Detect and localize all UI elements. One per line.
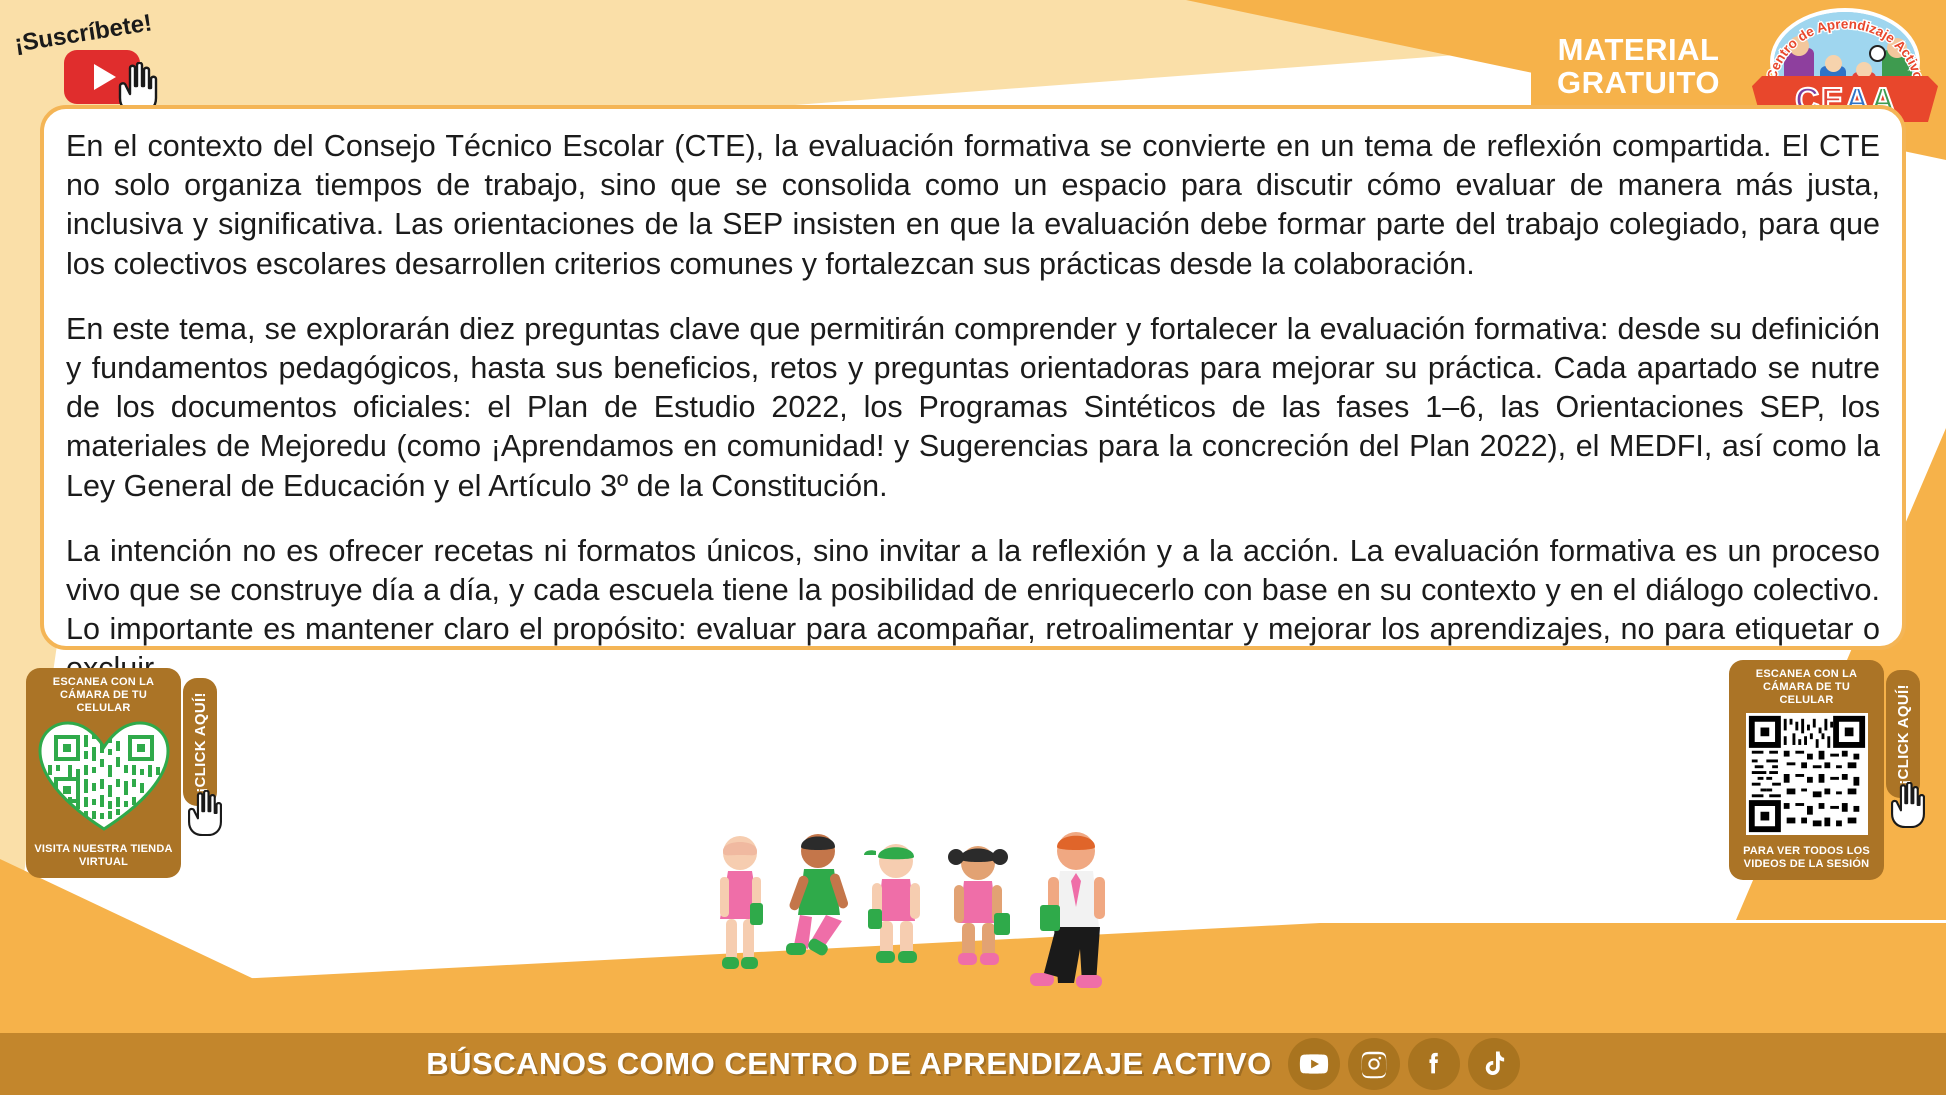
child-figure-1 — [720, 836, 763, 969]
content-card: En el contexto del Consejo Técnico Escol… — [40, 105, 1906, 650]
qr-left-caption-top-line1: ESCANEA CON LA — [32, 676, 175, 689]
qr-right-caption-top-line2: CÁMARA DE TU CELULAR — [1735, 681, 1878, 707]
material-line-2: GRATUITO — [1557, 67, 1720, 100]
qr-panel-videos[interactable]: ESCANEA CON LA CÁMARA DE TU CELULAR — [1729, 660, 1884, 880]
qr-right-caption-bottom-line2: VIDEOS DE LA SESIÓN — [1735, 858, 1878, 871]
pointing-hand-icon — [185, 790, 225, 836]
tiktok-icon[interactable] — [1468, 1038, 1520, 1090]
qr-left-caption-bottom-line1: VISITA NUESTRA TIENDA — [32, 843, 175, 856]
instagram-icon[interactable] — [1348, 1038, 1400, 1090]
pointing-hand-icon — [1888, 782, 1928, 828]
play-triangle-icon — [94, 64, 116, 90]
qr-right-caption-bottom-line1: PARA VER TODOS LOS — [1735, 845, 1878, 858]
subscribe-badge[interactable]: ¡Suscríbete! — [8, 6, 198, 111]
footer-bar: BÚSCANOS COMO CENTRO DE APRENDIZAJE ACTI… — [0, 1033, 1946, 1095]
child-figure-4 — [948, 846, 1010, 965]
click-here-label-left: ¡CLICK AQUÍ! — [192, 692, 209, 793]
facebook-icon[interactable] — [1408, 1038, 1460, 1090]
child-figure-3 — [864, 844, 920, 963]
qr-left-caption-bottom-line2: VIRTUAL — [32, 856, 175, 869]
child-figure-2 — [786, 834, 849, 957]
svg-text:Centro de Aprendizaje Activo: Centro de Aprendizaje Activo — [1764, 16, 1926, 81]
square-qr-code[interactable] — [1746, 713, 1868, 835]
paragraph-1: En el contexto del Consejo Técnico Escol… — [66, 127, 1880, 284]
material-line-1: MATERIAL — [1557, 34, 1720, 67]
click-here-label-right: ¡CLICK AQUÍ! — [1895, 684, 1912, 785]
click-here-tab-left[interactable]: ¡CLICK AQUÍ! — [183, 678, 217, 806]
click-here-tab-right[interactable]: ¡CLICK AQUÍ! — [1886, 670, 1920, 798]
paragraph-3: La intención no es ofrecer recetas ni fo… — [66, 532, 1880, 689]
material-gratuito-badge: MATERIAL GRATUITO — [1531, 25, 1746, 109]
adult-figure — [1030, 832, 1105, 988]
footer-text: BÚSCANOS COMO CENTRO DE APRENDIZAJE ACTI… — [426, 1046, 1271, 1082]
qr-left-caption-top-line2: CÁMARA DE TU CELULAR — [32, 689, 175, 715]
qr-panel-left-group[interactable]: ESCANEA CON LA CÁMARA DE TU CELULAR — [26, 668, 217, 878]
children-walking-illustration — [700, 823, 1220, 1023]
heart-qr-code[interactable] — [38, 721, 170, 833]
qr-panel-right-group[interactable]: ESCANEA CON LA CÁMARA DE TU CELULAR — [1729, 660, 1920, 880]
youtube-icon[interactable] — [1288, 1038, 1340, 1090]
qr-right-caption-top-line1: ESCANEA CON LA — [1735, 668, 1878, 681]
qr-panel-store[interactable]: ESCANEA CON LA CÁMARA DE TU CELULAR — [26, 668, 181, 878]
social-links[interactable] — [1288, 1038, 1520, 1090]
paragraph-2: En este tema, se explorarán diez pregunt… — [66, 310, 1880, 506]
